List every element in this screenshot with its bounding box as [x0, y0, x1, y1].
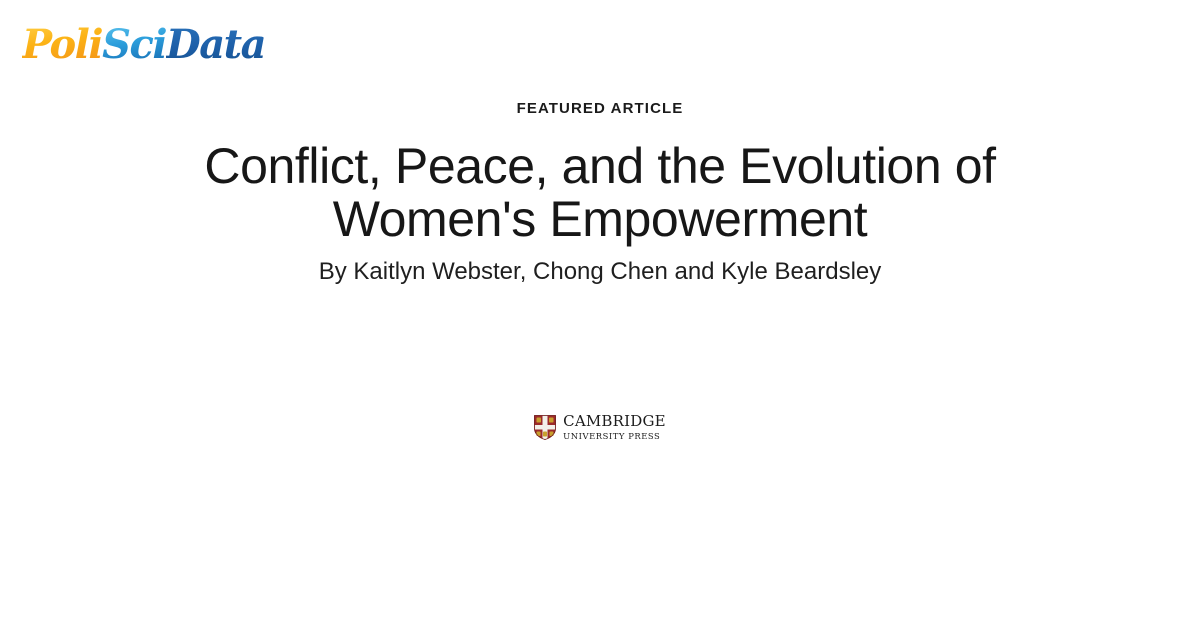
- site-logo[interactable]: PoliSciData: [22, 18, 265, 72]
- featured-article-block: FEATURED ARTICLE Conflict, Peace, and th…: [0, 100, 1200, 287]
- featured-article-eyebrow: FEATURED ARTICLE: [0, 100, 1200, 118]
- site-logo-part-data: Data: [166, 21, 265, 68]
- site-logo-part-sci: Sci: [102, 21, 166, 68]
- site-logo-part-poli: Poli: [22, 21, 102, 68]
- publisher-subtitle: UNIVERSITY PRESS: [563, 432, 666, 440]
- article-title: Conflict, Peace, and the Evolution of Wo…: [0, 140, 1200, 246]
- article-title-line-1: Conflict, Peace, and the Evolution of: [80, 140, 1120, 193]
- publisher-logo: CAMBRIDGE UNIVERSITY PRESS: [0, 414, 1200, 440]
- cambridge-crest-icon: [534, 415, 556, 440]
- publisher-logo-text: CAMBRIDGE UNIVERSITY PRESS: [563, 414, 666, 440]
- publisher-name: CAMBRIDGE: [563, 414, 666, 429]
- site-logo-wordmark: PoliSciData: [22, 25, 265, 65]
- article-byline: By Kaitlyn Webster, Chong Chen and Kyle …: [0, 256, 1200, 287]
- article-title-line-2: Women's Empowerment: [80, 193, 1120, 246]
